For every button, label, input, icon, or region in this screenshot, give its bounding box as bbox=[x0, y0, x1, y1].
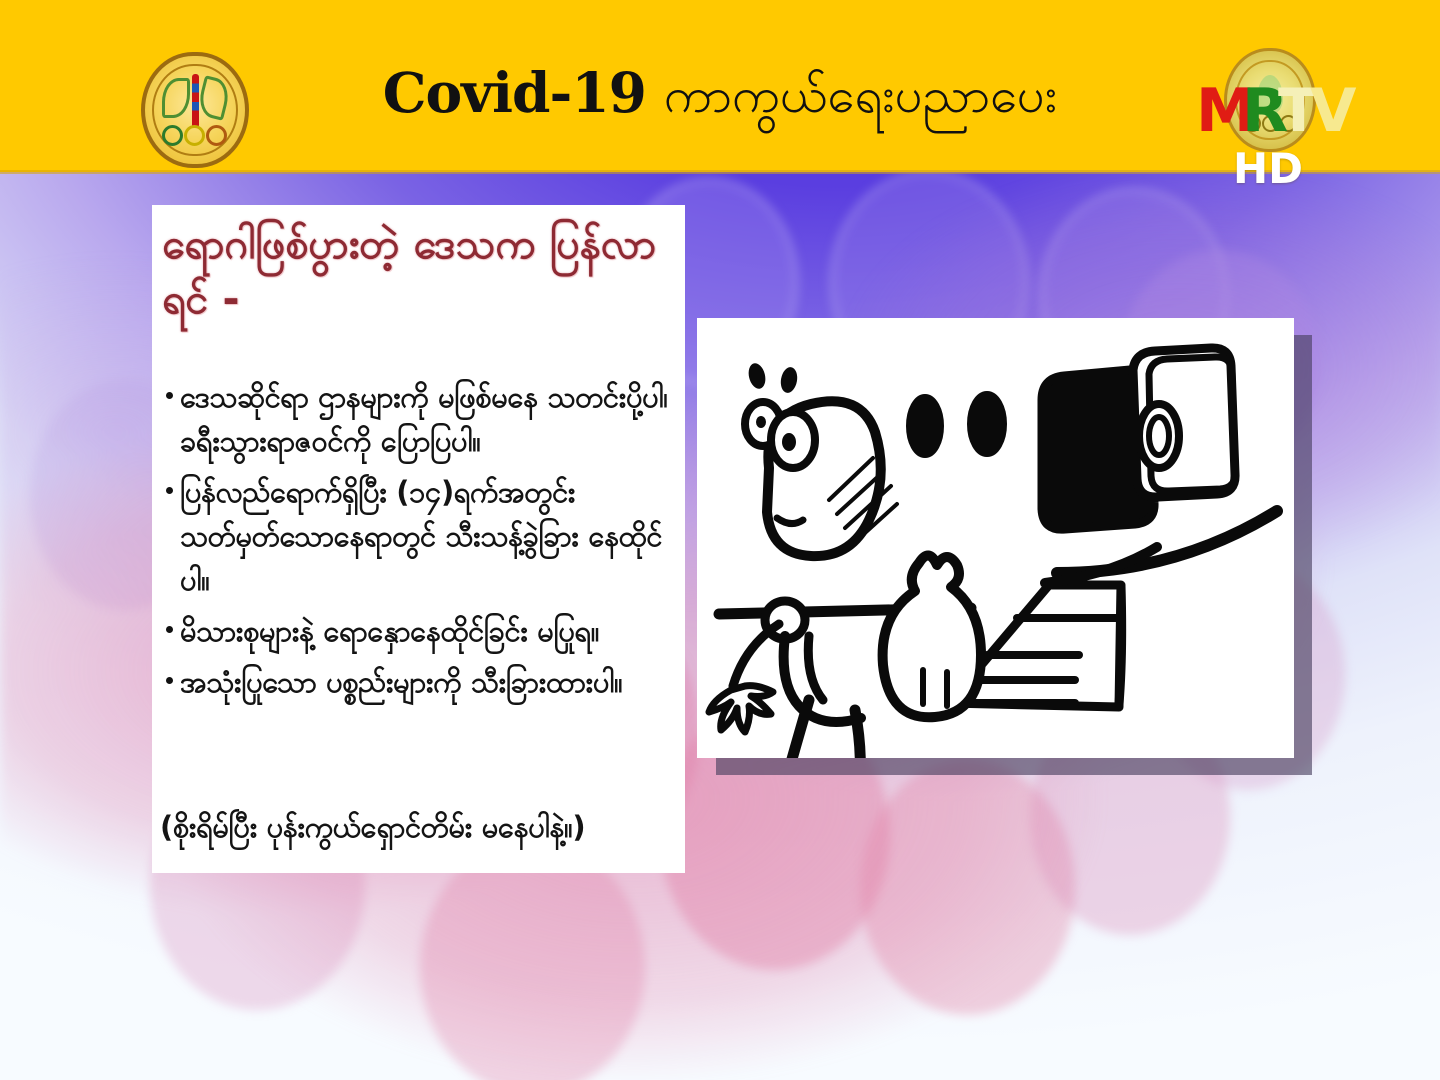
mrtv-hd-label: HD bbox=[1198, 148, 1338, 190]
list-item: မိသားစုများနဲ့ ရောနှောနေထိုင်ခြင်း မပြုရ… bbox=[158, 609, 680, 653]
mrtv-wordmark: M R T V bbox=[1198, 80, 1338, 142]
list-item-text: မိသားစုများနဲ့ ရောနှောနေထိုင်ခြင်း မပြုရ… bbox=[180, 609, 680, 653]
mrtv-hd-logo: M R T V HD bbox=[1198, 44, 1338, 184]
slide-root: Covid-19 ကာကွယ်ရေးပညာပေး M R T V bbox=[0, 0, 1440, 1080]
list-item-text: အသုံးပြုသော ပစ္စည်းများကို သီးခြားထားပါ။ bbox=[180, 660, 680, 704]
emblem-olympic-rings bbox=[162, 125, 228, 147]
emblem-ring bbox=[206, 125, 227, 146]
emblem-caduceus bbox=[192, 74, 199, 128]
list-item-text: ဒေသဆိုင်ရာ ဌာနများကို မဖြစ်မနေ သတင်းပို့… bbox=[180, 375, 680, 463]
traveler-leaving-airplane-cartoon-icon bbox=[697, 318, 1294, 758]
bullet-dot-icon bbox=[158, 375, 180, 399]
page-title-myanmar: ကာကွယ်ရေးပညာပေး bbox=[664, 67, 1057, 124]
list-item: ဒေသဆိုင်ရာ ဌာနများကို မဖြစ်မနေ သတင်းပို့… bbox=[158, 375, 680, 463]
list-item: ပြန်လည်ရောက်ရှိပြီး (၁၄)ရက်အတွင်း သတ်မှတ… bbox=[158, 470, 680, 602]
list-item: အသုံးပြုသော ပစ္စည်းများကို သီးခြားထားပါ။ bbox=[158, 660, 680, 704]
page-title-latin: Covid-19 bbox=[383, 60, 646, 125]
bullet-dot-icon bbox=[158, 660, 180, 684]
instructions-heading: ရောဂါဖြစ်ပွားတဲ့ ဒေသက ပြန်လာရင် - bbox=[162, 217, 677, 327]
emblem-ring bbox=[184, 125, 205, 146]
illustration-panel bbox=[697, 318, 1294, 758]
instructions-bullet-list: ဒေသဆိုင်ရာ ဌာနများကို မဖြစ်မနေ သတင်းပို့… bbox=[158, 375, 680, 711]
ministry-of-health-emblem-icon bbox=[141, 52, 249, 168]
mrtv-letter-t: T bbox=[1278, 80, 1314, 142]
instructions-note: (စိုးရိမ်ပြီး ပုန်းကွယ်ရှောင်တိမ်း မနေပါ… bbox=[160, 805, 680, 849]
emblem-ring bbox=[162, 125, 183, 146]
mrtv-letter-v: V bbox=[1310, 80, 1351, 142]
bullet-dot-icon bbox=[158, 470, 180, 494]
bullet-dot-icon bbox=[158, 609, 180, 633]
list-item-text: ပြန်လည်ရောက်ရှိပြီး (၁၄)ရက်အတွင်း သတ်မှတ… bbox=[180, 470, 680, 602]
instructions-panel: ရောဂါဖြစ်ပွားတဲ့ ဒေသက ပြန်လာရင် - ဒေသဆို… bbox=[152, 205, 685, 873]
